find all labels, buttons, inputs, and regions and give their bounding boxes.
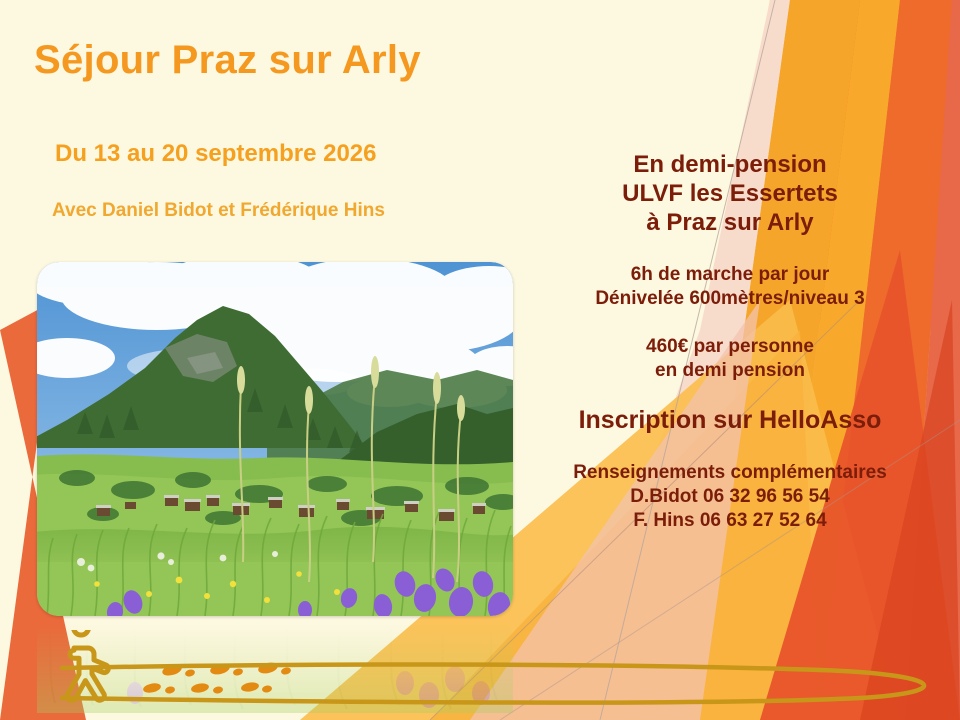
spacer: [520, 237, 940, 263]
contact-line: F. Hins 06 63 27 52 64: [520, 509, 940, 533]
trip-guides: Avec Daniel Bidot et Frédérique Hins: [52, 200, 385, 222]
walking-line: 6h de marche par jour: [520, 263, 940, 287]
trip-details-column: En demi-pension ULVF les Essertets à Pra…: [520, 150, 940, 533]
contact-block: Renseignements complémentaires D.Bidot 0…: [520, 461, 940, 533]
price-block: 460€ par personne en demi pension: [520, 335, 940, 383]
price-line: en demi pension: [520, 359, 940, 383]
spacer: [520, 383, 940, 405]
gold-swoosh-line: [60, 640, 960, 720]
accommodation-line: En demi-pension: [520, 150, 940, 179]
page-title: Séjour Praz sur Arly: [34, 38, 421, 83]
accommodation-line: ULVF les Essertets: [520, 179, 940, 208]
spacer: [520, 311, 940, 335]
trip-dates: Du 13 au 20 septembre 2026: [55, 140, 377, 168]
contact-line: Renseignements complémentaires: [520, 461, 940, 485]
walking-line: Dénivelée 600mètres/niveau 3: [520, 287, 940, 311]
registration-heading: Inscription sur HelloAsso: [520, 405, 940, 435]
walking-block: 6h de marche par jour Dénivelée 600mètre…: [520, 263, 940, 311]
accommodation-block: En demi-pension ULVF les Essertets à Pra…: [520, 150, 940, 237]
accommodation-line: à Praz sur Arly: [520, 208, 940, 237]
spacer: [520, 435, 940, 461]
slide-canvas: Séjour Praz sur Arly Du 13 au 20 septemb…: [0, 0, 960, 720]
price-line: 460€ par personne: [520, 335, 940, 359]
trip-photo: [37, 262, 513, 616]
contact-line: D.Bidot 06 32 96 56 54: [520, 485, 940, 509]
